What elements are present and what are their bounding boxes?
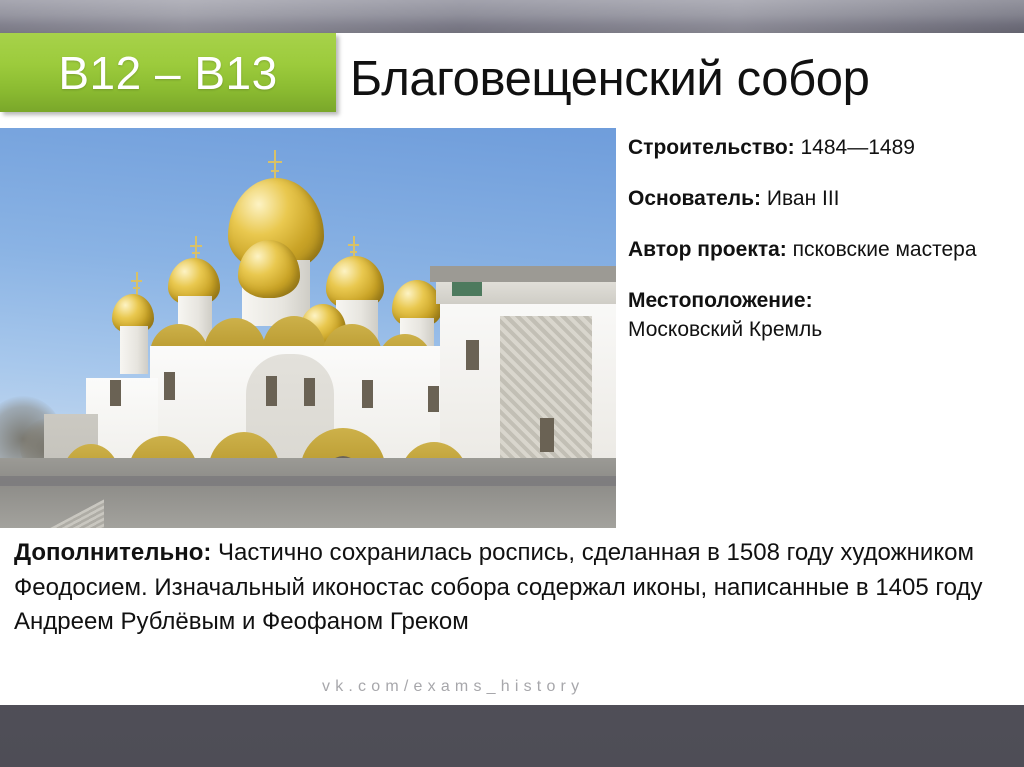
facade-window xyxy=(304,378,315,406)
cathedral-photo xyxy=(0,128,616,528)
dome-cross-icon xyxy=(131,272,142,296)
fact-location-value: Московский Кремль xyxy=(628,318,822,341)
fact-construction-key: Строительство: xyxy=(628,136,795,159)
facade-window xyxy=(362,380,373,408)
plaza-shadow-strip xyxy=(0,476,616,486)
additional-note: Дополнительно: Частично сохранилась росп… xyxy=(14,536,1010,640)
palace-roof xyxy=(430,266,616,282)
slide-surface: B12 – B13 Благовещенский собор xyxy=(0,33,1024,705)
additional-note-key: Дополнительно: xyxy=(14,539,211,566)
top-gradient-band xyxy=(0,0,1024,33)
fact-architect-value: псковские мастера xyxy=(787,238,977,261)
facade-window xyxy=(428,386,439,412)
page-title: Благовещенский собор xyxy=(350,39,1018,119)
facade-window xyxy=(466,340,479,370)
task-range-label: B12 – B13 xyxy=(58,46,277,100)
fact-construction-value: 1484—1489 xyxy=(795,136,915,159)
fact-founder: Основатель: Иван III xyxy=(628,184,1014,213)
fact-construction: Строительство: 1484—1489 xyxy=(628,133,1014,162)
facade-window xyxy=(266,376,277,406)
fact-location-key: Местоположение: xyxy=(628,289,813,312)
facade-window xyxy=(110,380,121,406)
source-watermark: vk.com/exams_history xyxy=(322,678,584,696)
fact-founder-key: Основатель: xyxy=(628,187,761,210)
fact-location: Местоположение: Московский Кремль xyxy=(628,286,1014,344)
facade-window xyxy=(164,372,175,400)
task-range-badge: B12 – B13 xyxy=(0,33,336,112)
fact-list: Строительство: 1484—1489 Основатель: Ива… xyxy=(628,133,1014,344)
fact-architect: Автор проекта: псковские мастера xyxy=(628,235,1014,264)
fact-founder-value: Иван III xyxy=(761,187,839,210)
presentation-viewport: B12 – B13 Благовещенский собор xyxy=(0,0,1024,767)
green-roof-accent xyxy=(452,282,482,296)
dome-drum xyxy=(120,326,148,374)
fact-architect-key: Автор проекта: xyxy=(628,238,787,261)
facade-window xyxy=(540,418,554,452)
